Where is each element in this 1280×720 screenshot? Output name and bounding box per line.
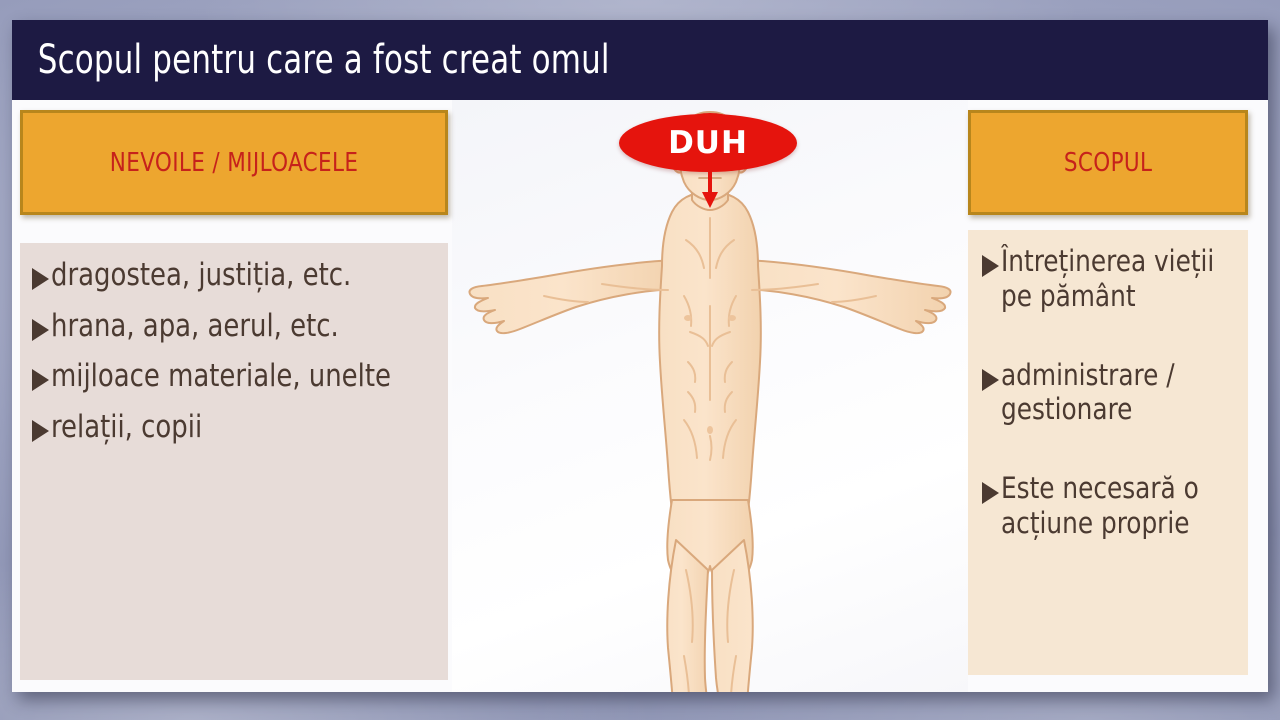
triangle-bullet-icon: [32, 369, 49, 391]
triangle-bullet-icon: [32, 268, 49, 290]
list-item-label: dragostea, justiția, etc.: [51, 257, 351, 294]
list-item: administrare / gestionare: [982, 358, 1238, 428]
list-item: Este necesară o acțiune proprie: [982, 471, 1238, 541]
list-item-label: administrare / gestionare: [1001, 358, 1226, 428]
list-item: Întreținerea vieții pe pământ: [982, 244, 1238, 314]
triangle-bullet-icon: [32, 319, 49, 341]
triangle-bullet-icon: [32, 420, 49, 442]
header-label-purpose: SCOPUL: [1064, 148, 1153, 178]
list-item-label: mijloace materiale, unelte: [51, 358, 391, 395]
panel-needs: dragostea, justiția, etc. hrana, apa, ae…: [20, 243, 448, 680]
list-item-label: relații, copii: [51, 409, 202, 446]
triangle-bullet-icon: [982, 255, 999, 277]
slide-root: Scopul pentru care a fost creat omul: [0, 0, 1280, 720]
header-box-needs[interactable]: NEVOILE / MIJLOACELE: [20, 110, 448, 215]
list-item-label: Este necesară o acțiune proprie: [1001, 471, 1226, 541]
duh-label: DUH: [668, 125, 748, 161]
page-title: Scopul pentru care a fost creat omul: [12, 37, 610, 83]
arrow-down-icon: [700, 168, 720, 208]
title-bar: Scopul pentru care a fost creat omul: [12, 20, 1268, 100]
triangle-bullet-icon: [982, 369, 999, 391]
list-item: hrana, apa, aerul, etc.: [32, 308, 438, 345]
triangle-bullet-icon: [982, 482, 999, 504]
list-item-label: hrana, apa, aerul, etc.: [51, 308, 339, 345]
panel-purpose: Întreținerea vieții pe pământ administra…: [968, 230, 1248, 675]
list-item-label: Întreținerea vieții pe pământ: [1001, 244, 1226, 314]
duh-badge: DUH: [619, 114, 797, 172]
list-item: mijloace materiale, unelte: [32, 358, 438, 395]
list-item: relații, copii: [32, 409, 438, 446]
header-label-needs: NEVOILE / MIJLOACELE: [110, 148, 359, 178]
list-item: dragostea, justiția, etc.: [32, 257, 438, 294]
header-box-purpose[interactable]: SCOPUL: [968, 110, 1248, 215]
